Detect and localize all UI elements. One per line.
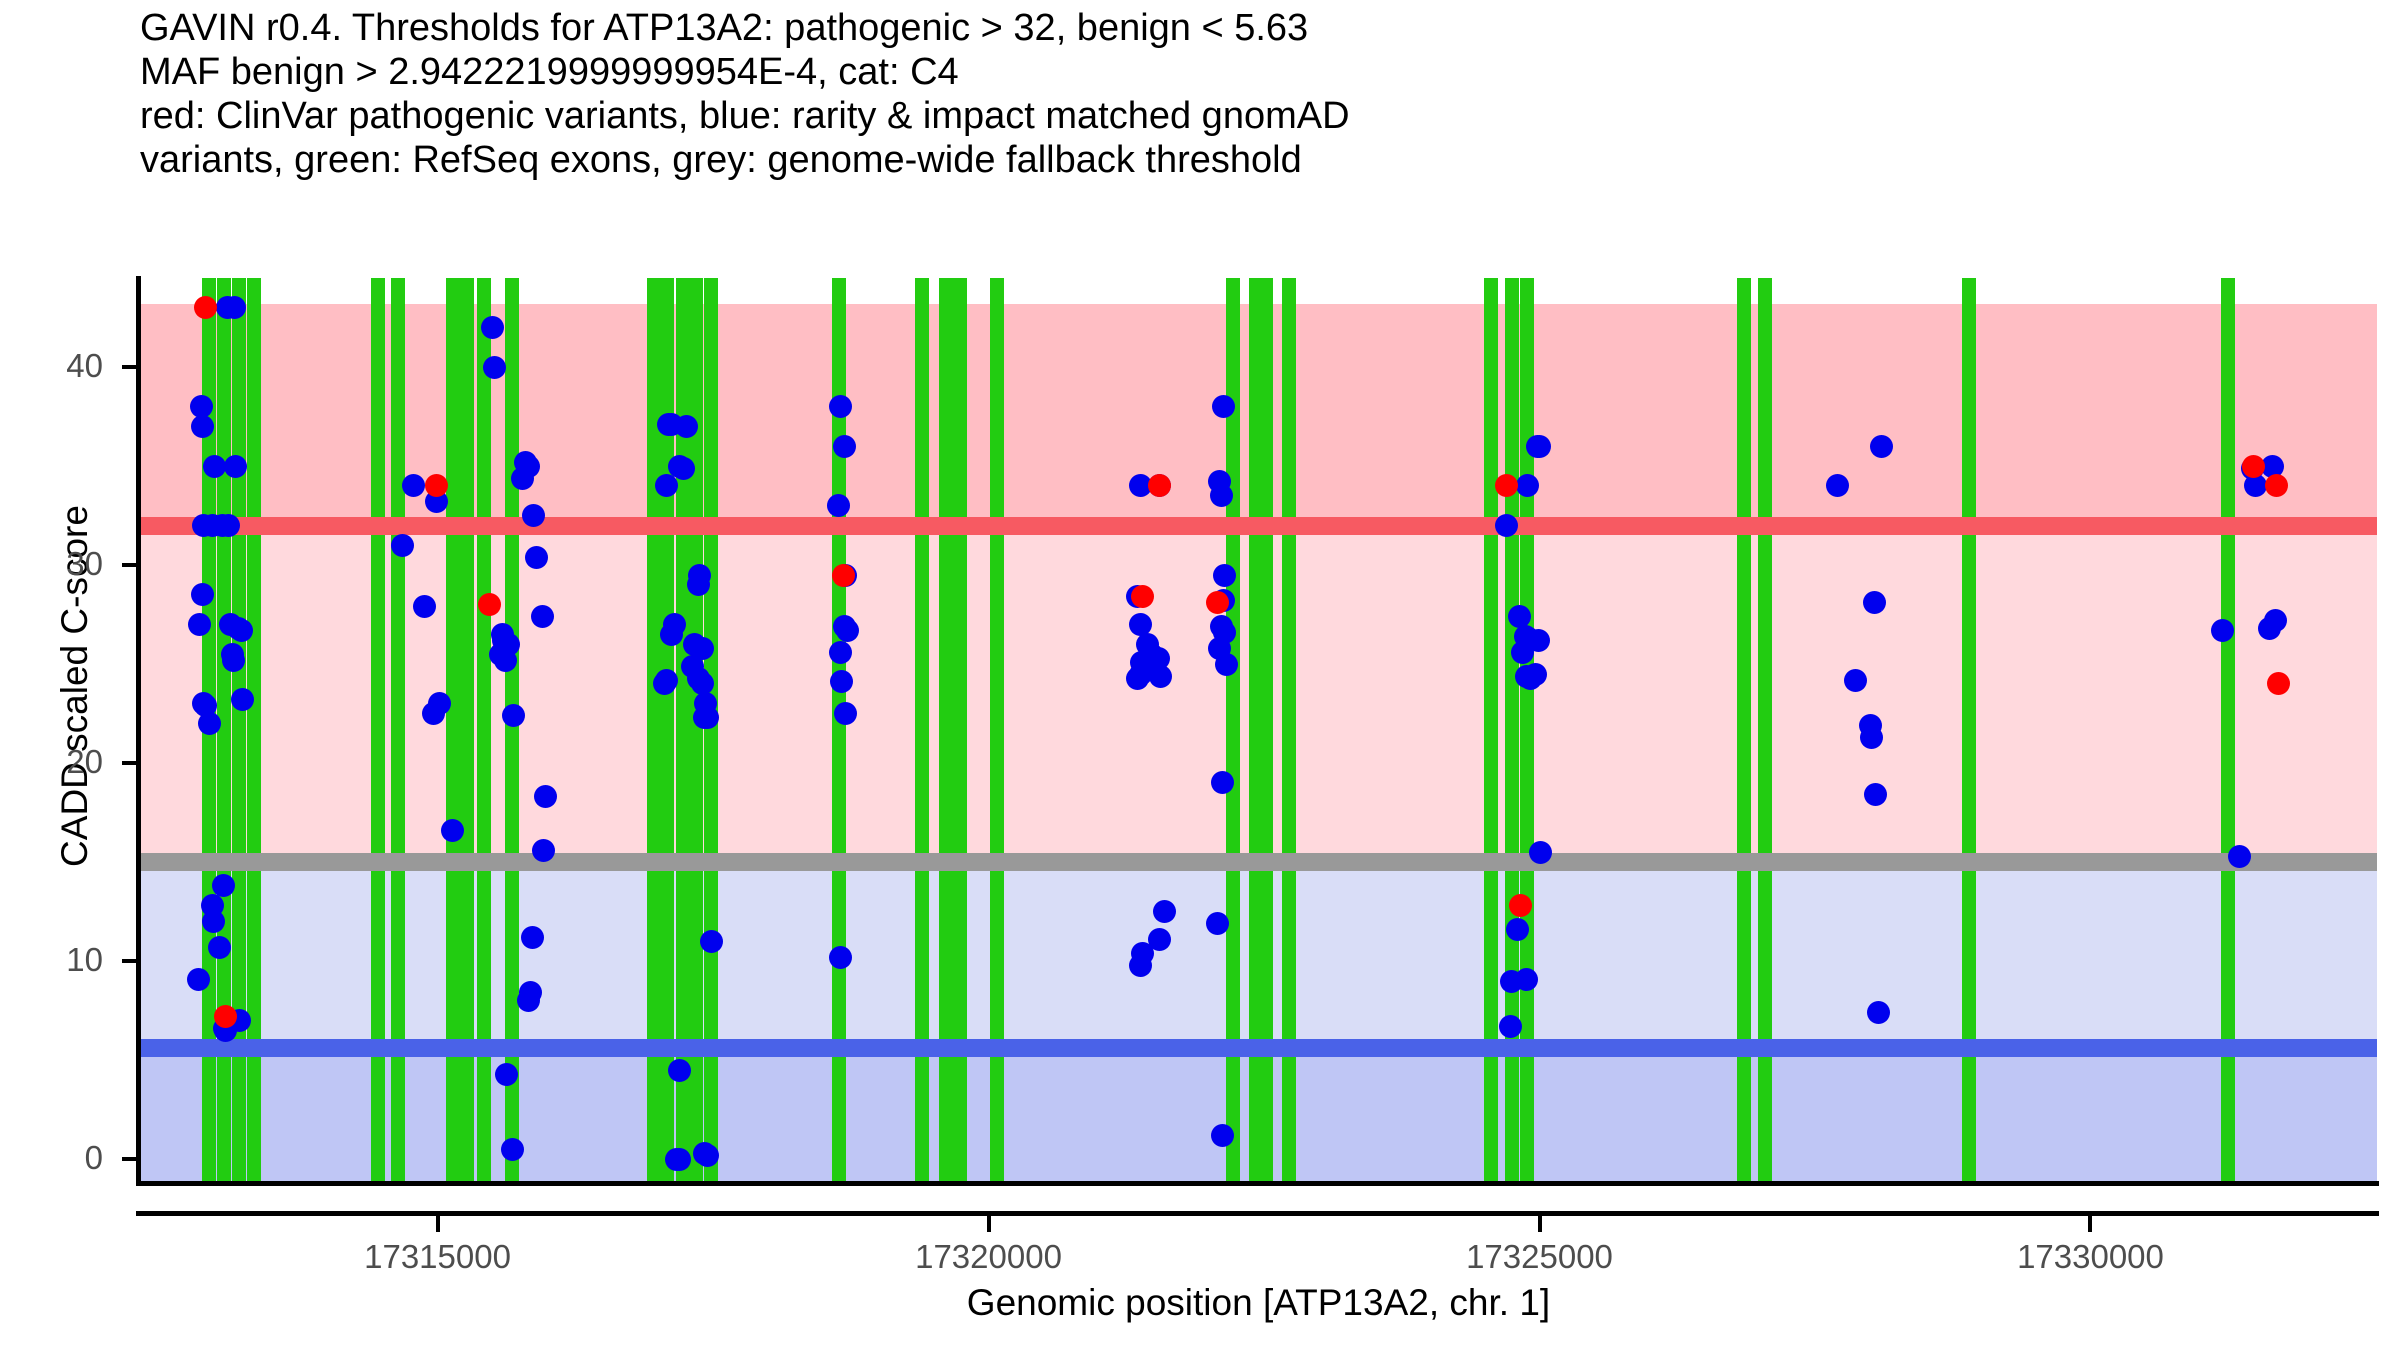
gnomad-variant-point (1215, 653, 1238, 676)
x-axis-tick (987, 1216, 991, 1232)
title-line-3: red: ClinVar pathogenic variants, blue: … (140, 94, 2340, 138)
y-axis-tick (122, 563, 138, 567)
gnomad-variant-point (203, 455, 226, 478)
gnomad-variant-point (663, 613, 686, 636)
gnomad-variant-point (1149, 665, 1172, 688)
gnomad-variant-point (1826, 474, 1849, 497)
gnomad-variant-point (668, 1059, 691, 1082)
clinvar-variant-point (832, 564, 855, 587)
benign-threshold-line (140, 1039, 2377, 1057)
y-axis-line (136, 276, 141, 1185)
y-axis-tick (122, 365, 138, 369)
x-axis-title: Genomic position [ATP13A2, chr. 1] (140, 1282, 2377, 1324)
gnomad-variant-point (829, 641, 852, 664)
gnomad-variant-point (187, 968, 210, 991)
gnomad-variant-point (1212, 395, 1235, 418)
gnomad-variant-point (1213, 564, 1236, 587)
title-line-2: MAF benign > 2.9422219999999954E-4, cat:… (140, 50, 2340, 94)
gnomad-variant-point (696, 1144, 719, 1167)
gnomad-variant-point (1528, 435, 1551, 458)
x-axis-tick-label: 17320000 (789, 1238, 1189, 1276)
y-axis-tick-label: 10 (0, 941, 103, 979)
gnomad-variant-point (833, 435, 856, 458)
clinvar-variant-point (2242, 455, 2265, 478)
gnomad-variant-point (675, 415, 698, 438)
y-axis-tick-label: 40 (0, 347, 103, 385)
title-line-1: GAVIN r0.4. Thresholds for ATP13A2: path… (140, 6, 2340, 50)
y-axis-tick (122, 959, 138, 963)
gnomad-variant-point (217, 514, 240, 537)
gnomad-variant-point (522, 504, 545, 527)
gnomad-variant-point (413, 595, 436, 618)
gnomad-variant-point (2258, 617, 2281, 640)
gnomad-variant-point (391, 534, 414, 557)
gnomad-variant-point (422, 702, 445, 725)
y-axis-tick-label: 30 (0, 545, 103, 583)
gnomad-variant-point (672, 457, 695, 480)
pathogenic-threshold-line (140, 517, 2377, 535)
gnomad-variant-point (1524, 663, 1547, 686)
gnomad-variant-point (1495, 514, 1518, 537)
gnomad-variant-point (208, 936, 231, 959)
gnomad-variant-point (1211, 771, 1234, 794)
x-axis-line (136, 1211, 2379, 1216)
gnomad-variant-point (222, 649, 245, 672)
gnomad-variant-point (1129, 954, 1152, 977)
gnomad-variant-point (198, 712, 221, 735)
gnomad-variant-point (188, 613, 211, 636)
x-axis-tick-label: 17330000 (1890, 1238, 2290, 1276)
y-axis-tick (122, 761, 138, 765)
clinvar-variant-point (194, 296, 217, 319)
clinvar-variant-point (478, 593, 501, 616)
gnomad-variant-point (525, 546, 548, 569)
gnomad-variant-point (834, 702, 857, 725)
x-axis-tick (2088, 1216, 2092, 1232)
gnomad-variant-point (517, 455, 540, 478)
x-axis-tick-label: 17325000 (1340, 1238, 1740, 1276)
y-axis-title: CADD scaled C-score (54, 366, 96, 1006)
plot-panel (140, 278, 2377, 1183)
gnomad-variant-point (2228, 845, 2251, 868)
x-axis-tick (1538, 1216, 1542, 1232)
gnomad-variant-point (836, 619, 859, 642)
gnomad-variant-point (1211, 1124, 1234, 1147)
y-axis-tick-label: 20 (0, 743, 103, 781)
gnomad-variant-point (1870, 435, 1893, 458)
gnomad-variant-point (1515, 968, 1538, 991)
gnomad-variant-point (829, 946, 852, 969)
gnomad-variant-point (521, 926, 544, 949)
panel-bottom-border (136, 1181, 2379, 1186)
gnomad-variant-point (532, 839, 555, 862)
gnomad-variant-point (1529, 841, 1552, 864)
gnomad-variant-point (481, 316, 504, 339)
gnomad-variant-point (693, 706, 716, 729)
gnomad-variant-point (483, 356, 506, 379)
gnomad-variant-point (501, 1138, 524, 1161)
gnomad-variant-point (531, 605, 554, 628)
gnomad-variant-point (495, 1063, 518, 1086)
gnomad-variant-point (224, 455, 247, 478)
gnomad-variant-point (1126, 667, 1149, 690)
y-axis-tick-label: 0 (0, 1139, 103, 1177)
gnomad-variant-point (230, 619, 253, 642)
gnomad-variant-point (1860, 726, 1883, 749)
gnomad-variant-point (1210, 484, 1233, 507)
x-axis-tick-label: 17315000 (238, 1238, 638, 1276)
gnomad-variant-point (1844, 669, 1867, 692)
chart-root: GAVIN r0.4. Thresholds for ATP13A2: path… (0, 0, 2400, 1350)
x-axis-tick (436, 1216, 440, 1232)
y-axis-tick (122, 1157, 138, 1161)
gnomad-variant-point (1506, 918, 1529, 941)
gnomad-variant-point (494, 649, 517, 672)
title-line-4: variants, green: RefSeq exons, grey: gen… (140, 138, 2340, 182)
fallback-threshold-line (140, 853, 2377, 871)
chart-title-block: GAVIN r0.4. Thresholds for ATP13A2: path… (140, 6, 2340, 182)
